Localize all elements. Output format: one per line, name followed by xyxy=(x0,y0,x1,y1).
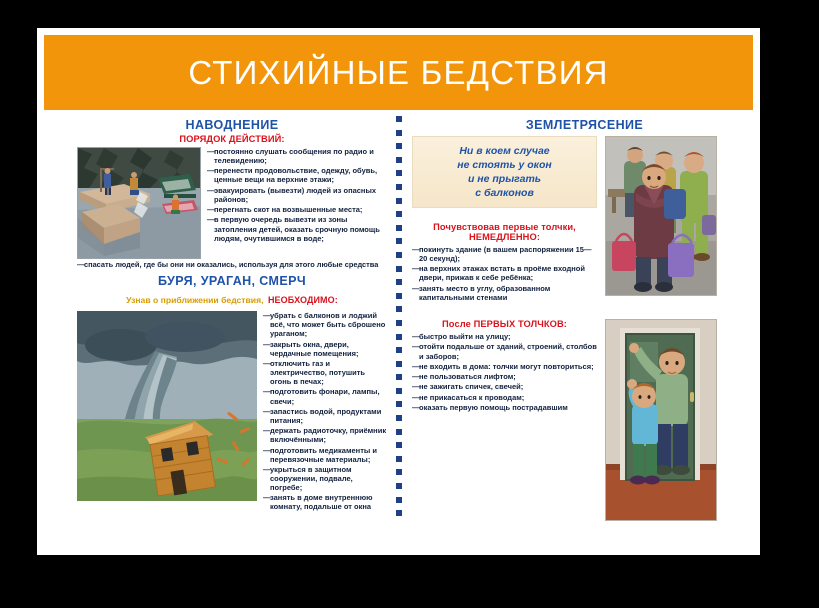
list-item: укрыться в защитном сооружении, подвале,… xyxy=(263,465,387,492)
warning-line: и не прыгать xyxy=(468,172,541,186)
earthquake-section-title: ЗЕМЛЕТРЯСЕНИЕ xyxy=(412,118,757,132)
list-item: перегнать скот на возвышенные места; xyxy=(207,205,387,214)
divider-bullet xyxy=(396,238,402,244)
storm-illustration xyxy=(77,311,257,501)
list-item: запастись водой, продуктами питания; xyxy=(263,407,387,425)
evacuation-illustration xyxy=(605,136,717,296)
after-tremors-title: После ПЕРВЫХ ТОЛЧКОВ: xyxy=(412,319,597,329)
list-item: на верхних этажах встать в проёме входно… xyxy=(412,264,597,282)
poster-banner: СТИХИЙНЫЕ БЕДСТВИЯ xyxy=(44,35,753,110)
divider-bullet xyxy=(396,116,402,122)
list-item: постоянно слушать сообщения по радио и т… xyxy=(207,147,387,165)
flood-subtitle: ПОРЯДОК ДЕЙСТВИЙ: xyxy=(77,134,387,144)
list-item: не входить в дома: толчки могут повторит… xyxy=(412,362,597,371)
bullet-divider-column xyxy=(392,116,406,546)
poster-card: СТИХИЙНЫЕ БЕДСТВИЯ НАВОДНЕНИЕ ПОРЯДОК ДЕ… xyxy=(37,28,760,555)
list-item: отключить газ и электричество, потушить … xyxy=(263,359,387,386)
earthquake-text-block-after: После ПЕРВЫХ ТОЛЧКОВ: быстро выйти на ул… xyxy=(412,319,597,413)
divider-bullet xyxy=(396,279,402,285)
storm-action-list: убрать с балконов и лоджий всё, что може… xyxy=(263,311,387,513)
divider-bullet xyxy=(396,334,402,340)
after-tremors-title-prefix: После xyxy=(442,319,471,329)
flood-illustration xyxy=(77,147,201,259)
divider-bullet xyxy=(396,347,402,353)
doorway-illustration xyxy=(605,319,717,521)
divider-bullet xyxy=(396,401,402,407)
list-item: занять место в углу, образованном капита… xyxy=(412,284,597,302)
list-item: покинуть здание (в вашем распоряжении 15… xyxy=(412,245,597,263)
list-item: закрыть окна, двери, чердачные помещения… xyxy=(263,340,387,358)
divider-bullet xyxy=(396,252,402,258)
divider-bullet xyxy=(396,157,402,163)
divider-bullet xyxy=(396,198,402,204)
divider-bullet xyxy=(396,429,402,435)
right-column: ЗЕМЛЕТРЯСЕНИЕ Ни в коем случае не стоять… xyxy=(412,118,757,521)
divider-bullet xyxy=(396,211,402,217)
poster-title: СТИХИЙНЫЕ БЕДСТВИЯ xyxy=(188,54,608,92)
flood-section-title: НАВОДНЕНИЕ xyxy=(77,118,387,132)
left-column: НАВОДНЕНИЕ ПОРЯДОК ДЕЙСТВИЙ: xyxy=(77,118,387,513)
divider-bullet xyxy=(396,497,402,503)
warning-line: не стоять у окон xyxy=(457,158,551,172)
divider-bullet xyxy=(396,456,402,462)
list-item: не пользоваться лифтом; xyxy=(412,372,597,381)
list-item: быстро выйти на улицу; xyxy=(412,332,597,341)
divider-bullet xyxy=(396,306,402,312)
divider-bullet xyxy=(396,184,402,190)
divider-bullet xyxy=(396,361,402,367)
warning-line: Ни в коем случае xyxy=(459,144,549,158)
first-tremors-list: покинуть здание (в вашем распоряжении 15… xyxy=(412,245,597,302)
storm-content-row: убрать с балконов и лоджий всё, что може… xyxy=(77,311,387,513)
earthquake-top-row: Ни в коем случае не стоять у окон и не п… xyxy=(412,136,757,303)
first-tremors-title: Почувствовав первые толчки, НЕМЕДЛЕННО: xyxy=(412,222,597,242)
divider-bullet xyxy=(396,483,402,489)
after-tremors-list: быстро выйти на улицу; отойти подальше о… xyxy=(412,332,597,412)
list-item: не зажигать спичек, свечей; xyxy=(412,382,597,391)
list-item: эвакуировать (вывезти) людей из опасных … xyxy=(207,186,387,204)
after-tremors-title-main: ПЕРВЫХ ТОЛЧКОВ: xyxy=(474,319,567,329)
first-tremors-title-line1: Почувствовав первые толчки, xyxy=(433,222,576,232)
list-item: не прикасаться к проводам; xyxy=(412,393,597,402)
flood-content-row: постоянно слушать сообщения по радио и т… xyxy=(77,147,387,259)
divider-bullet xyxy=(396,374,402,380)
divider-bullet xyxy=(396,415,402,421)
divider-bullet xyxy=(396,293,402,299)
divider-bullet xyxy=(396,170,402,176)
divider-bullet xyxy=(396,225,402,231)
divider-bullet xyxy=(396,143,402,149)
earthquake-bottom-row: После ПЕРВЫХ ТОЛЧКОВ: быстро выйти на ул… xyxy=(412,319,757,521)
divider-bullet xyxy=(396,510,402,516)
divider-bullet xyxy=(396,388,402,394)
list-item: держать радиоточку, приёмник включёнными… xyxy=(263,426,387,444)
earthquake-text-block-first: Ни в коем случае не стоять у окон и не п… xyxy=(412,136,597,303)
storm-subtitle: Узнав о приближении бедствия, НЕОБХОДИМО… xyxy=(77,290,387,308)
list-item: подготовить медикаменты и перевязочные м… xyxy=(263,446,387,464)
storm-section-title: БУРЯ, УРАГАН, СМЕРЧ xyxy=(77,274,387,288)
flood-action-list-tail: спасать людей, где бы они ни оказались, … xyxy=(77,260,387,269)
divider-bullet xyxy=(396,469,402,475)
list-item: подготовить фонари, лампы, свечи; xyxy=(263,387,387,405)
warning-line: с балконов xyxy=(475,186,534,200)
first-tremors-title-line2: НЕМЕДЛЕННО: xyxy=(412,232,597,242)
storm-subtitle-gold: Узнав о приближении бедствия, xyxy=(126,295,263,305)
list-item: убрать с балконов и лоджий всё, что може… xyxy=(263,311,387,338)
flood-action-list: постоянно слушать сообщения по радио и т… xyxy=(207,147,387,244)
list-item: в первую очередь вывезти из зоны затопле… xyxy=(207,215,387,242)
divider-bullet xyxy=(396,442,402,448)
list-item: оказать первую помощь пострадавшим xyxy=(412,403,597,412)
divider-bullet xyxy=(396,266,402,272)
earthquake-warning-box: Ни в коем случае не стоять у окон и не п… xyxy=(412,136,597,208)
storm-subtitle-red: НЕОБХОДИМО: xyxy=(268,295,338,305)
list-item: спасать людей, где бы они ни оказались, … xyxy=(77,260,387,269)
list-item: отойти подальше от зданий, строений, сто… xyxy=(412,342,597,360)
divider-bullet xyxy=(396,320,402,326)
list-item: занять в доме внутреннюю комнату, подаль… xyxy=(263,493,387,511)
list-item: перенести продовольствие, одежду, обувь,… xyxy=(207,166,387,184)
divider-bullet xyxy=(396,130,402,136)
